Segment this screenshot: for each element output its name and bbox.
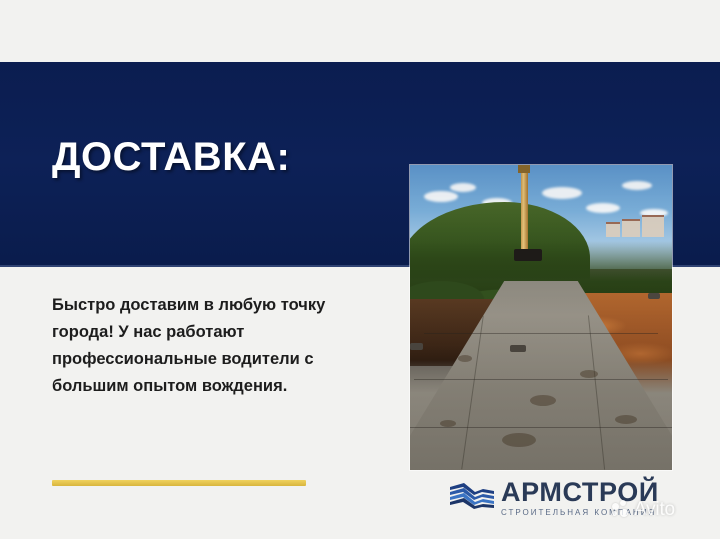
layered-wave-icon — [449, 480, 495, 510]
avito-watermark: Avito — [612, 500, 675, 519]
construction-photo — [410, 165, 672, 470]
slide-canvas: ДОСТАВКА: Быстро доставим в любую точку … — [0, 0, 720, 539]
accent-divider — [52, 480, 306, 486]
photo-shading — [410, 165, 672, 470]
avito-dots-icon — [612, 500, 631, 519]
body-paragraph: Быстро доставим в любую точку города! У … — [52, 292, 374, 400]
avito-wordmark: Avito — [634, 500, 675, 519]
page-title: ДОСТАВКА: — [52, 134, 290, 180]
